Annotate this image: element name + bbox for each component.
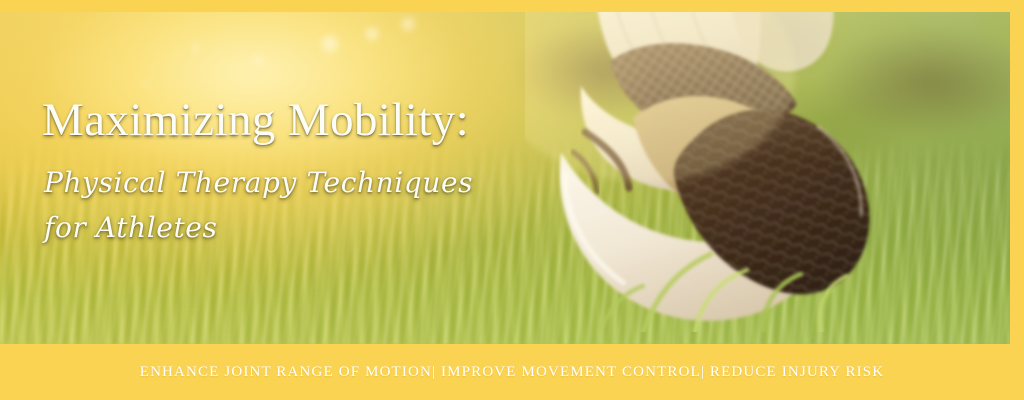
frame-border-right (1010, 0, 1024, 345)
keyword-strip: ENHANCE JOINT RANGE OF MOTION| IMPROVE M… (0, 344, 1024, 400)
headline-block: Maximizing Mobility: Physical Therapy Te… (42, 96, 602, 251)
keyword-strip-text: ENHANCE JOINT RANGE OF MOTION| IMPROVE M… (140, 364, 885, 381)
page-title: Maximizing Mobility: (42, 96, 602, 146)
hero-banner: Maximizing Mobility: Physical Therapy Te… (0, 0, 1024, 400)
page-subtitle: Physical Therapy Techniques for Athletes (44, 160, 524, 251)
frame-border-top (0, 0, 1024, 12)
